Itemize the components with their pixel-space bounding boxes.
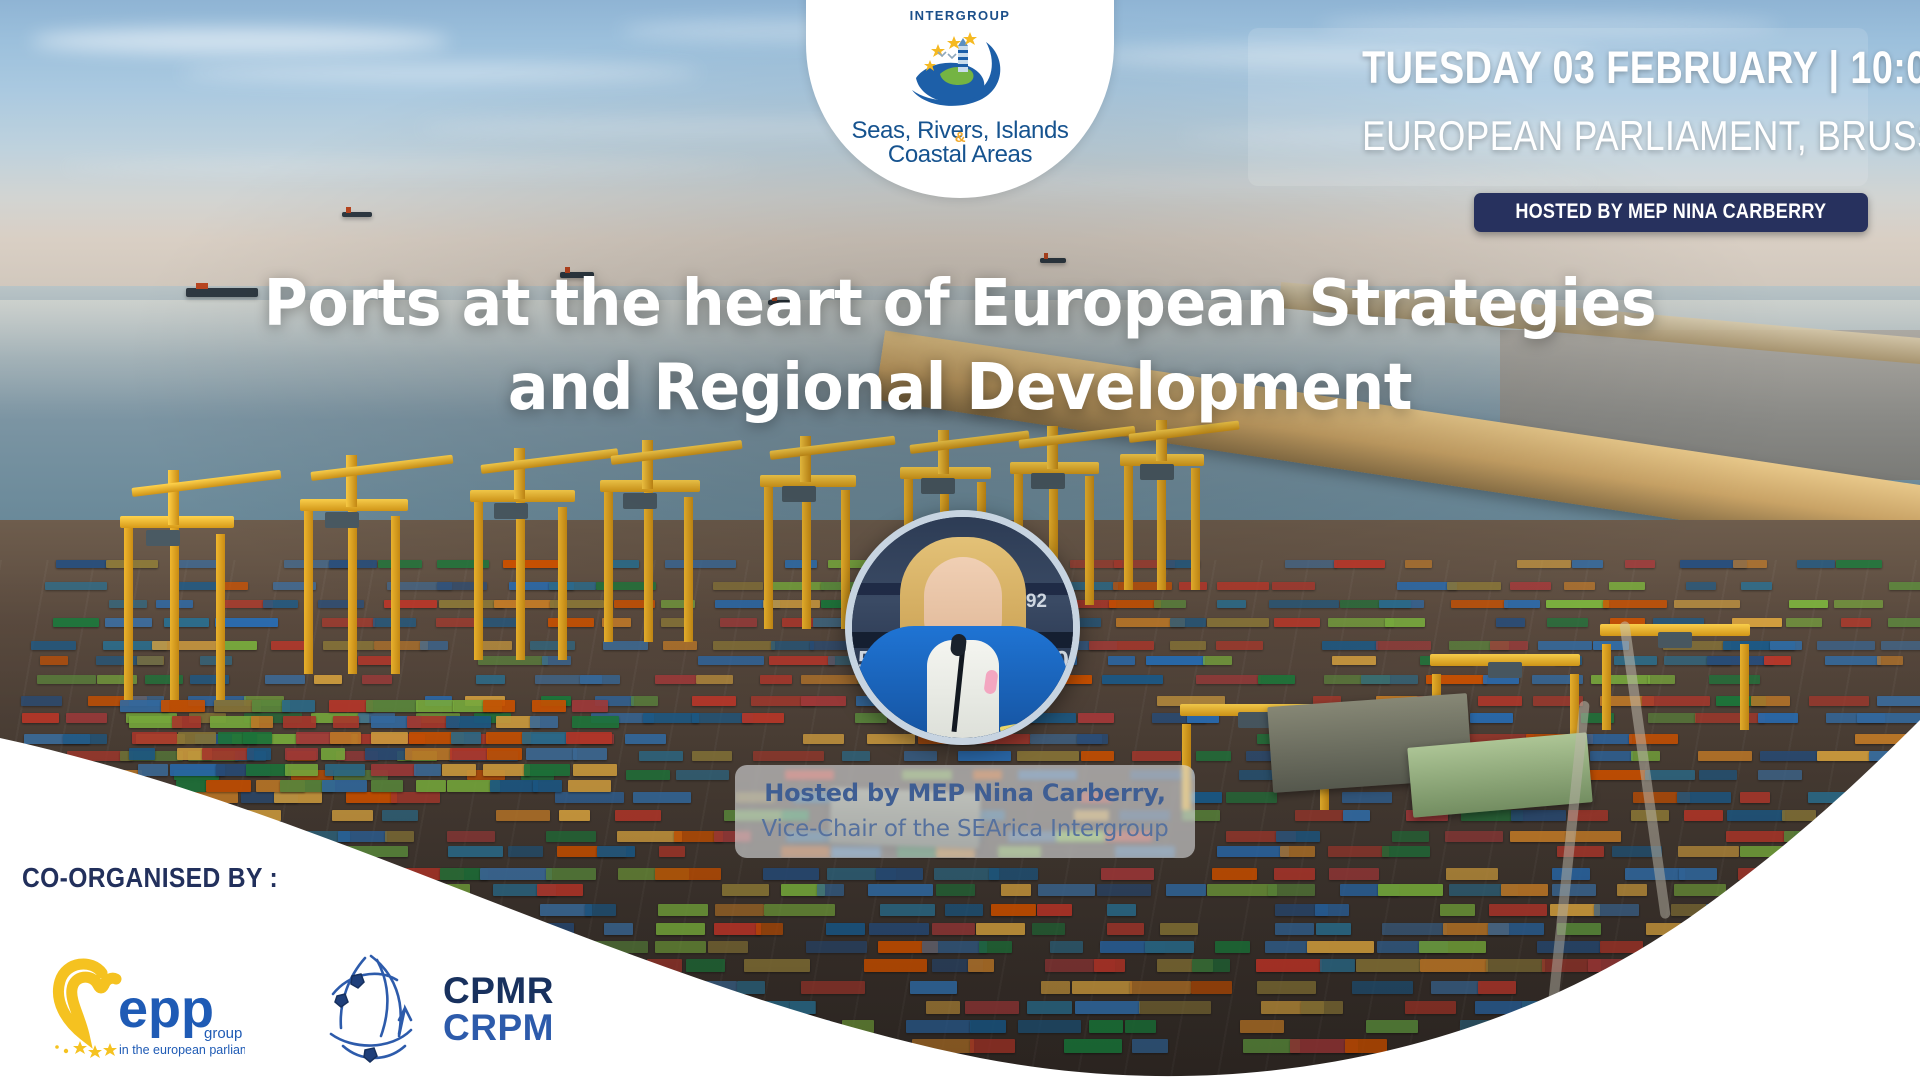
- searica-lighthouse-logo: [894, 26, 1026, 118]
- caption-host-role: Vice-Chair of the SEArica Intergroup: [751, 816, 1179, 842]
- host-badge: HOSTED BY MEP NINA CARBERRY: [1474, 193, 1868, 232]
- searica-wordmark: Seas, Rivers, Islands & Coastal Areas: [851, 119, 1068, 168]
- intergroup-label: INTERGROUP: [910, 8, 1011, 23]
- cpmr-line: CPMR: [443, 972, 554, 1009]
- epp-wordmark: epp: [118, 979, 214, 1039]
- epp-group-word: group: [204, 1025, 242, 1042]
- epp-group-logo: epp group in the european parliament: [40, 955, 245, 1063]
- caption-host-name: Hosted by MEP Nina Carberry,: [751, 779, 1179, 807]
- event-location: EUROPEAN PARLIAMENT, BRUSSELS: [1362, 112, 1846, 160]
- ampersand: &: [955, 130, 965, 145]
- title-line-1: Ports at the heart of European Strategie…: [58, 262, 1863, 346]
- epp-logo-mark: epp group in the european parliament: [40, 955, 245, 1063]
- speaker-caption: Hosted by MEP Nina Carberry, Vice-Chair …: [735, 765, 1195, 858]
- cpmr-crpm-logo: CPMR CRPM: [319, 950, 554, 1068]
- event-meta-panel: TUESDAY 03 FEBRUARY | 10:00- 12:00 EUROP…: [1248, 28, 1868, 186]
- event-poster: INTERGROUP: [0, 0, 1920, 1080]
- co-organised-label: CO-ORGANISED BY :: [22, 862, 278, 894]
- organiser-logos: epp group in the european parliament: [40, 950, 554, 1068]
- epp-tagline: in the european parliament: [119, 1043, 245, 1057]
- title-line-2: and Regional Development: [58, 346, 1863, 430]
- speaker-portrait: 92 505 500: [845, 510, 1080, 745]
- cpmr-wordmark: CPMR CRPM: [443, 972, 554, 1046]
- crpm-line: CRPM: [443, 1009, 554, 1046]
- seat-number: 92: [1026, 591, 1047, 613]
- event-date: TUESDAY 03 FEBRUARY | 10:00- 12:00: [1362, 42, 1846, 94]
- logo-name-line2: & Coastal Areas: [851, 143, 1068, 167]
- cpmr-logo-mark: [319, 950, 429, 1068]
- page-title: Ports at the heart of European Strategie…: [0, 262, 1920, 431]
- host-badge-label: HOSTED BY MEP NINA CARBERRY: [1516, 200, 1827, 224]
